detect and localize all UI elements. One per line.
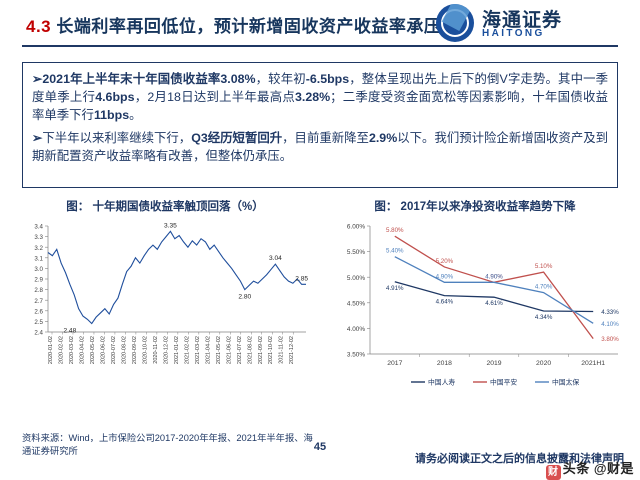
x-tick-label: 2020-11-02	[153, 336, 159, 364]
watermark-icon: 财	[546, 465, 561, 480]
y-tick-label: 3.3	[34, 234, 43, 241]
point-label-1-3: 5.10%	[535, 263, 553, 270]
point-label-2-2: 4.90%	[485, 273, 503, 280]
p2-seg-2: Q3经历短暂回升	[191, 131, 282, 145]
point-label-2-4: 4.10%	[601, 321, 619, 328]
page-number: 45	[300, 441, 340, 453]
y-tick-label: 2.4	[34, 330, 43, 337]
logo-english-name: HAITONG	[482, 28, 545, 39]
watermark-text: 头条 @财是	[563, 461, 634, 476]
point-label-0-4: 4.33%	[601, 309, 619, 316]
x-tick-label: 2021-12-02	[289, 336, 295, 364]
y-tick-label: 5.00%	[347, 275, 365, 282]
x-tick-label: 2021-02-02	[184, 336, 190, 364]
x-tick-label: 2020-02-02	[58, 336, 64, 364]
point-label-1-4: 3.80%	[601, 336, 619, 343]
watermark: 财头条 @财是	[546, 458, 634, 480]
x-tick-label: 2020-10-02	[142, 336, 148, 364]
x-tick-label: 2020-06-02	[100, 336, 106, 364]
header-divider	[22, 45, 618, 47]
p1-seg-9: 11bps	[94, 108, 129, 122]
y-tick-label: 5.50%	[347, 249, 365, 256]
p2-seg-1: 下半年以来利率继续下行，	[42, 131, 191, 145]
y-tick-label: 3.2	[34, 245, 43, 252]
x-tick-label: 2020-08-02	[121, 336, 127, 364]
x-tick-label: 2020-12-02	[163, 336, 169, 364]
p1-seg-6: ，2月18日达到上半年最高点	[134, 90, 295, 104]
data-label-2.80: 2.80	[238, 294, 251, 301]
p1-seg-10: 。	[129, 108, 141, 122]
page-title-number: 4.3	[26, 17, 51, 36]
p1-seg-1: 2021年上半年末十年国债收益率3.08%	[42, 72, 255, 86]
x-tick-label: 2021-11-02	[279, 336, 285, 364]
y-tick-label: 2.7	[34, 298, 43, 305]
x-tick-label: 2017	[387, 360, 402, 367]
data-label-3.04: 3.04	[269, 255, 282, 262]
x-tick-label: 2018	[437, 360, 452, 367]
x-tick-label: 2021H1	[581, 360, 605, 367]
y-tick-label: 2.5	[34, 319, 43, 326]
point-label-0-2: 4.61%	[485, 300, 503, 307]
bullet-arrow-icon: ➢	[32, 72, 42, 86]
x-tick-label: 2020-01-02	[48, 336, 54, 364]
p2-seg-3: ，目前重新降至	[282, 131, 369, 145]
summary-textbox: ➢2021年上半年末十年国债收益率3.08%，较年初-6.5bps，整体呈现出先…	[22, 62, 618, 188]
x-tick-label: 2020-05-02	[90, 336, 96, 364]
y-tick-label: 6.00%	[347, 224, 365, 231]
source-note: 资料来源：Wind，上市保险公司2017-2020年年报、2021年半年报、海通…	[22, 432, 322, 459]
x-tick-label: 2020-03-02	[69, 336, 75, 364]
p2-seg-4: 2.9%	[369, 131, 397, 145]
data-label-2.85: 2.85	[295, 275, 308, 282]
x-tick-label: 2020-07-02	[111, 336, 117, 364]
net-investment-yield-line-chart: 6.00%5.50%5.00%4.50%4.00%3.50%2017201820…	[330, 214, 630, 404]
x-tick-label: 2021-07-02	[237, 336, 243, 364]
page-title-text: 长端利率再回低位，预计新增固收资产收益率承压	[56, 17, 441, 36]
x-tick-label: 2020-09-02	[132, 336, 138, 364]
legend-label-1: 中国平安	[490, 378, 517, 387]
left-chart-title: 图： 十年期国债收益率触顶回落（%）	[30, 198, 300, 214]
bullet-arrow-icon-2: ➢	[32, 131, 42, 145]
x-tick-label: 2021-03-02	[195, 336, 201, 364]
point-label-0-1: 4.64%	[436, 299, 454, 306]
yield-series-line	[48, 231, 306, 323]
point-label-1-0: 5.80%	[386, 227, 404, 234]
x-tick-label: 2021-08-02	[247, 336, 253, 364]
legend-label-0: 中国人寿	[428, 378, 455, 387]
x-tick-label: 2021-04-02	[205, 336, 211, 364]
x-tick-label: 2019	[486, 360, 501, 367]
p1-seg-7: 3.28%	[295, 90, 330, 104]
legend-label-2: 中国太保	[552, 378, 579, 387]
point-label-2-0: 5.40%	[386, 248, 404, 255]
x-tick-label: 2020	[536, 360, 551, 367]
y-tick-label: 2.6	[34, 308, 43, 315]
y-tick-label: 2.9	[34, 277, 43, 284]
series-line-1	[395, 236, 593, 338]
x-tick-label: 2020-04-02	[79, 336, 85, 364]
company-logo: 海通证券 HAITONG	[436, 2, 626, 46]
point-label-2-3: 4.70%	[535, 284, 553, 291]
x-tick-label: 2021-01-02	[174, 336, 180, 364]
y-tick-label: 4.00%	[347, 326, 365, 333]
point-label-0-0: 4.91%	[386, 285, 404, 292]
x-tick-label: 2021-10-02	[268, 336, 274, 364]
slide: 4.3 长端利率再回低位，预计新增固收资产收益率承压 海通证券 HAITONG …	[0, 0, 640, 480]
x-tick-label: 2021-09-02	[258, 336, 264, 364]
haitong-emblem-icon	[436, 4, 474, 42]
point-label-1-1: 5.20%	[436, 258, 454, 265]
summary-paragraph-2: ➢下半年以来利率继续下行，Q3经历短暂回升，目前重新降至2.9%以下。我们预计险…	[32, 129, 608, 165]
p1-seg-5: 4.6bps	[95, 90, 134, 104]
y-tick-label: 2.8	[34, 287, 43, 294]
y-tick-label: 3.1	[34, 255, 43, 262]
point-label-0-3: 4.34%	[535, 314, 553, 321]
y-tick-label: 3.0	[34, 266, 43, 273]
y-tick-label: 3.4	[34, 224, 43, 231]
left-chart-svg: 3.43.33.23.13.02.92.82.72.62.52.42.483.3…	[14, 214, 314, 404]
x-tick-label: 2021-05-02	[216, 336, 222, 364]
data-label-3.35: 3.35	[164, 222, 177, 229]
p1-seg-3: -6.5bps	[306, 72, 349, 86]
slide-header: 4.3 长端利率再回低位，预计新增固收资产收益率承压 海通证券 HAITONG	[0, 0, 640, 52]
summary-paragraph-1: ➢2021年上半年末十年国债收益率3.08%，较年初-6.5bps，整体呈现出先…	[32, 70, 608, 125]
y-tick-label: 4.50%	[347, 300, 365, 307]
point-label-2-1: 4.90%	[436, 273, 454, 280]
right-chart-svg: 6.00%5.50%5.00%4.50%4.00%3.50%2017201820…	[330, 214, 630, 404]
data-label-2.48: 2.48	[63, 328, 76, 335]
right-chart-title: 图： 2017年以来净投资收益率趋势下降	[340, 198, 610, 214]
x-tick-label: 2021-06-02	[226, 336, 232, 364]
p1-seg-2: ，较年初	[256, 72, 306, 86]
treasury-yield-line-chart: 3.43.33.23.13.02.92.82.72.62.52.42.483.3…	[14, 214, 314, 404]
y-tick-label: 3.50%	[347, 352, 365, 359]
page-title: 4.3 长端利率再回低位，预计新增固收资产收益率承压	[26, 12, 441, 37]
